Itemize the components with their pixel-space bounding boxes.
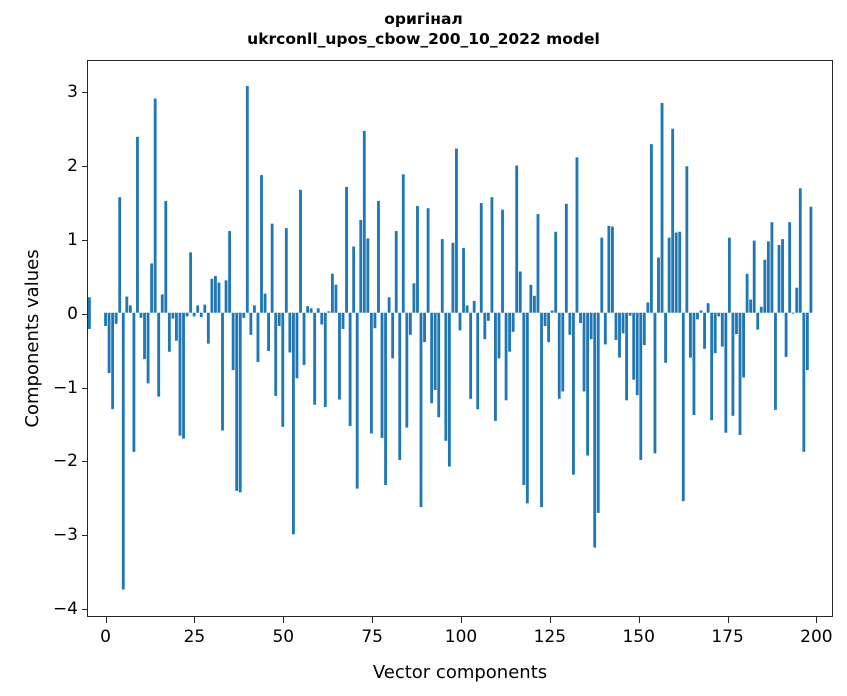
x-tick-label: 175 — [711, 627, 743, 647]
chart-title-line-2: ukrconll_upos_cbow_200_10_2022 model — [0, 30, 847, 50]
y-tick-label: −1 — [53, 378, 78, 398]
y-tick-mark — [82, 609, 89, 610]
x-tick-mark — [106, 616, 107, 623]
y-tick-mark — [82, 166, 89, 167]
y-axis-label: Components values — [22, 60, 43, 617]
x-tick-label: 0 — [100, 627, 111, 647]
x-tick-label: 150 — [622, 627, 654, 647]
x-tick-mark — [283, 616, 284, 623]
y-tick-label: 1 — [67, 230, 78, 250]
y-tick-mark — [82, 461, 89, 462]
bar-series — [88, 61, 832, 616]
plot-axes: 3210−1−2−3−4 0255075100125150175200 — [87, 60, 833, 617]
y-tick-mark — [82, 314, 89, 315]
x-tick-mark — [728, 616, 729, 623]
x-tick-mark — [550, 616, 551, 623]
x-tick-label: 25 — [184, 627, 206, 647]
x-tick-mark — [372, 616, 373, 623]
y-tick-label: −2 — [53, 451, 78, 471]
x-tick-label: 50 — [272, 627, 294, 647]
y-tick-mark — [82, 535, 89, 536]
x-tick-mark — [639, 616, 640, 623]
x-axis-label: Vector components — [87, 662, 833, 683]
y-tick-label: 3 — [67, 82, 78, 102]
x-tick-label: 125 — [534, 627, 566, 647]
x-tick-label: 200 — [800, 627, 832, 647]
y-tick-mark — [82, 240, 89, 241]
x-tick-mark — [194, 616, 195, 623]
y-tick-label: 0 — [67, 304, 78, 324]
y-tick-label: −3 — [53, 525, 78, 545]
y-tick-label: −4 — [53, 599, 78, 619]
x-tick-mark — [816, 616, 817, 623]
x-tick-mark — [461, 616, 462, 623]
chart-title-line-1: оригінал — [0, 10, 847, 30]
x-tick-label: 75 — [361, 627, 383, 647]
matplotlib-figure: оригінал ukrconll_upos_cbow_200_10_2022 … — [0, 0, 847, 696]
y-tick-label: 2 — [67, 156, 78, 176]
plot-area — [88, 61, 832, 616]
x-tick-label: 100 — [445, 627, 477, 647]
y-tick-mark — [82, 92, 89, 93]
y-tick-mark — [82, 388, 89, 389]
chart-title: оригінал ukrconll_upos_cbow_200_10_2022 … — [0, 10, 847, 50]
